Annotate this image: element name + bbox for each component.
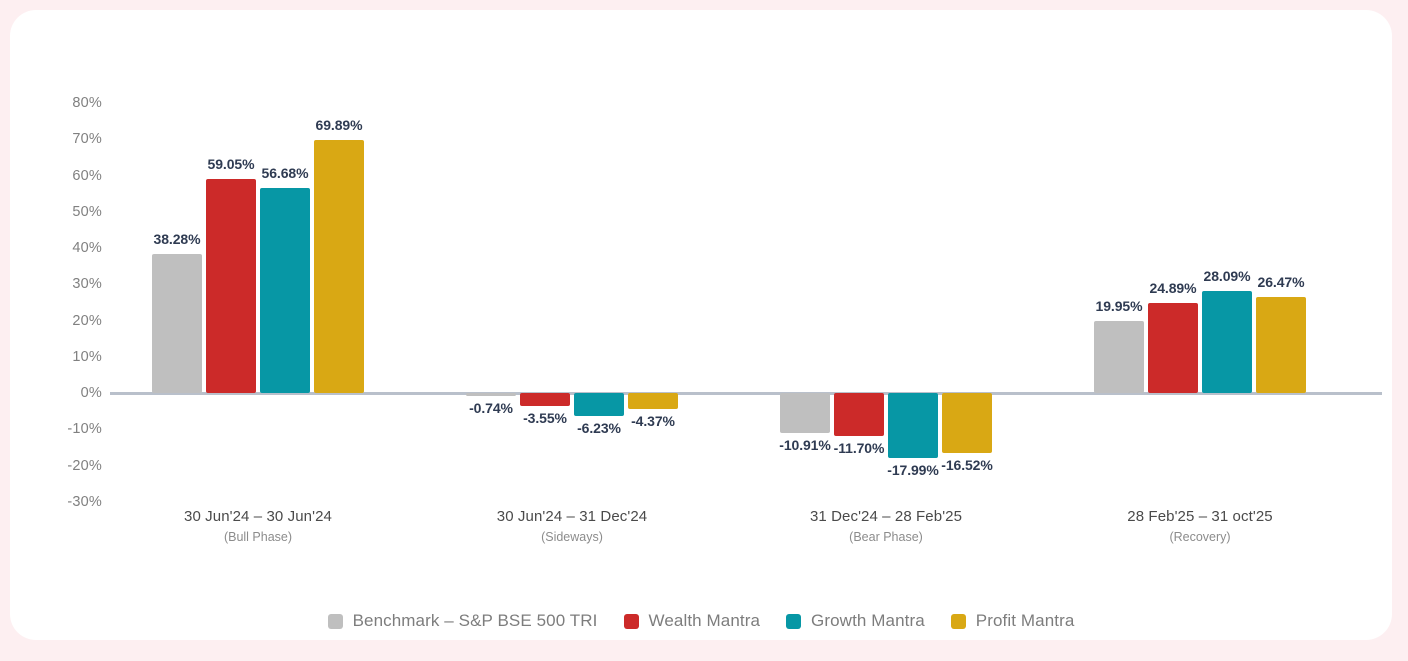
bar[interactable]: [628, 393, 678, 409]
bar[interactable]: [780, 393, 830, 433]
y-axis-tick-label: 20%: [40, 313, 102, 329]
bar[interactable]: [520, 393, 570, 406]
legend-label: Profit Mantra: [976, 611, 1075, 631]
y-axis-tick-label: 70%: [40, 131, 102, 147]
bar-value-label: 26.47%: [1238, 274, 1324, 290]
x-axis-category-sublabel: (Recovery): [1060, 530, 1340, 544]
bar-group: -0.74%-3.55%-6.23%-4.37%: [466, 10, 678, 640]
bar-chart-plot: 80%70%60%50%40%30%20%10%0%-10%-20%-30% 3…: [10, 10, 1392, 640]
y-axis-tick-label: 40%: [40, 240, 102, 256]
x-axis-category-sublabel: (Bear Phase): [746, 530, 1026, 544]
y-axis-tick-label: -30%: [40, 494, 102, 510]
legend-label: Growth Mantra: [811, 611, 925, 631]
y-axis-tick-label: 0%: [40, 385, 102, 401]
bar-group: -10.91%-11.70%-17.99%-16.52%: [780, 10, 992, 640]
bar[interactable]: [1094, 321, 1144, 393]
bar[interactable]: [314, 140, 364, 394]
bar-value-label: 69.89%: [296, 117, 382, 133]
y-axis-tick-label: 60%: [40, 168, 102, 184]
x-axis-category-sublabel: (Sideways): [432, 530, 712, 544]
x-axis-category: 31 Dec'24 – 28 Feb'25(Bear Phase): [746, 508, 1026, 544]
bar[interactable]: [152, 254, 202, 393]
bar-group: 19.95%24.89%28.09%26.47%: [1094, 10, 1306, 640]
legend-swatch-icon: [951, 614, 966, 629]
bar[interactable]: [260, 188, 310, 394]
bar-group: 38.28%59.05%56.68%69.89%: [152, 10, 364, 640]
bar[interactable]: [206, 179, 256, 393]
bar[interactable]: [834, 393, 884, 435]
x-axis-category-label: 28 Feb'25 – 31 oct'25: [1060, 508, 1340, 525]
x-axis-category-sublabel: (Bull Phase): [118, 530, 398, 544]
legend-item[interactable]: Wealth Mantra: [624, 611, 761, 631]
bar[interactable]: [888, 393, 938, 458]
legend-swatch-icon: [624, 614, 639, 629]
legend-swatch-icon: [786, 614, 801, 629]
x-axis-category-label: 30 Jun'24 – 31 Dec'24: [432, 508, 712, 525]
y-axis-tick-label: 30%: [40, 276, 102, 292]
legend-item[interactable]: Profit Mantra: [951, 611, 1075, 631]
bar[interactable]: [1202, 291, 1252, 393]
legend-label: Benchmark – S&P BSE 500 TRI: [353, 611, 598, 631]
bar[interactable]: [942, 393, 992, 453]
y-axis-tick-label: -10%: [40, 421, 102, 437]
x-axis-category: 28 Feb'25 – 31 oct'25(Recovery): [1060, 508, 1340, 544]
x-axis-category: 30 Jun'24 – 31 Dec'24(Sideways): [432, 508, 712, 544]
y-axis-tick-label: -20%: [40, 458, 102, 474]
legend-item[interactable]: Growth Mantra: [786, 611, 925, 631]
legend-swatch-icon: [328, 614, 343, 629]
bar-value-label: -4.37%: [610, 413, 696, 429]
y-axis-tick-label: 80%: [40, 95, 102, 111]
y-axis-tick-label: 50%: [40, 204, 102, 220]
legend-item[interactable]: Benchmark – S&P BSE 500 TRI: [328, 611, 598, 631]
chart-card: 80%70%60%50%40%30%20%10%0%-10%-20%-30% 3…: [10, 10, 1392, 640]
bar[interactable]: [466, 393, 516, 396]
bar[interactable]: [1148, 303, 1198, 393]
x-axis-category-label: 31 Dec'24 – 28 Feb'25: [746, 508, 1026, 525]
x-axis-category: 30 Jun'24 – 30 Jun'24(Bull Phase): [118, 508, 398, 544]
bar-value-label: -16.52%: [924, 457, 1010, 473]
chart-legend: Benchmark – S&P BSE 500 TRIWealth Mantra…: [10, 611, 1392, 631]
bar[interactable]: [1256, 297, 1306, 393]
y-axis-tick-label: 10%: [40, 349, 102, 365]
x-axis-category-label: 30 Jun'24 – 30 Jun'24: [118, 508, 398, 525]
legend-label: Wealth Mantra: [649, 611, 761, 631]
